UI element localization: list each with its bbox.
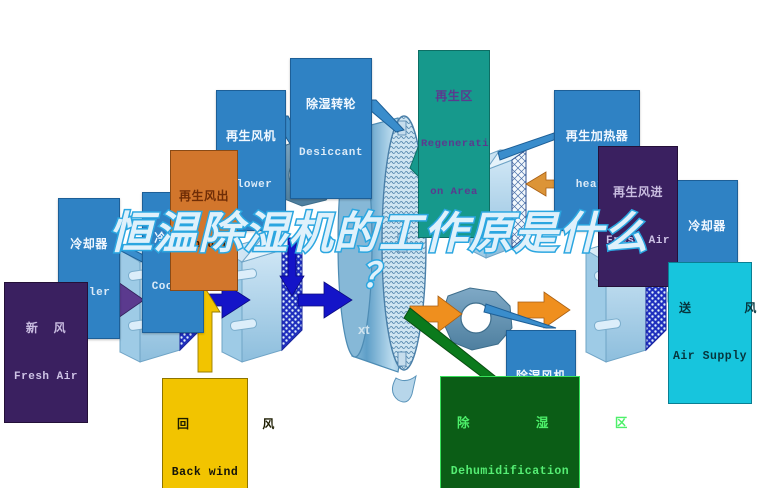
tag-fresh-air-en: Fresh Air	[7, 371, 85, 383]
callout-regeneration-heater-cn: 再生加热器	[557, 130, 637, 143]
callout-regeneration-area-cn: 再生区	[421, 90, 487, 103]
tag-dehumidification-district-en: Dehumidification	[443, 466, 577, 479]
tag-back-wind-en: Back wind	[165, 467, 245, 480]
callout-cooler-right-cn: 冷却器	[679, 220, 735, 233]
callout-regeneration-area-en: Regenerati	[421, 139, 487, 151]
tag-air-supply-cn: 送 风	[671, 302, 749, 315]
callout-desiccant-wheel-en: Desiccant	[293, 147, 369, 159]
callout-regeneration-area-en2: on Area	[421, 187, 487, 199]
callout-desiccant-wheel[interactable]: 除湿转轮 Desiccant	[290, 58, 372, 199]
tag-exhaust-en: Exhaust	[173, 239, 235, 251]
callout-regeneration-area[interactable]: 再生区 Regenerati on Area	[418, 50, 490, 238]
tag-back-wind[interactable]: 回 风 Back wind	[162, 378, 248, 488]
callout-cooler-left-1-cn: 冷却器	[61, 238, 117, 251]
dehumidifier-principle-diagram: xt 除湿转轮 Desiccant 再生风机 Blower 再生区 Regene…	[0, 0, 757, 488]
callout-desiccant-wheel-cn: 除湿转轮	[293, 98, 369, 111]
tag-back-wind-cn: 回 风	[165, 418, 245, 431]
tag-exhaust-cn: 再生风出	[173, 190, 235, 203]
tag-regeneration-fresh-air-cn: 再生风进	[601, 186, 675, 199]
tag-dehumidification-district-cn: 除 湿 区	[443, 416, 577, 430]
tag-exhaust[interactable]: 再生风出 Exhaust	[170, 150, 238, 291]
tag-regeneration-fresh-air[interactable]: 再生风进 Fresh Air	[598, 146, 678, 287]
tag-air-supply-en: Air Supply	[671, 351, 749, 364]
tag-regeneration-fresh-air-en: Fresh Air	[601, 235, 675, 247]
tag-fresh-air[interactable]: 新 风 Fresh Air	[4, 282, 88, 423]
tag-air-supply[interactable]: 送 风 Air Supply	[668, 262, 752, 404]
tag-fresh-air-cn: 新 风	[7, 322, 85, 335]
tag-dehumidification-district[interactable]: 除 湿 区 Dehumidification District	[440, 376, 580, 488]
callout-regeneration-blower-cn: 再生风机	[219, 130, 283, 143]
